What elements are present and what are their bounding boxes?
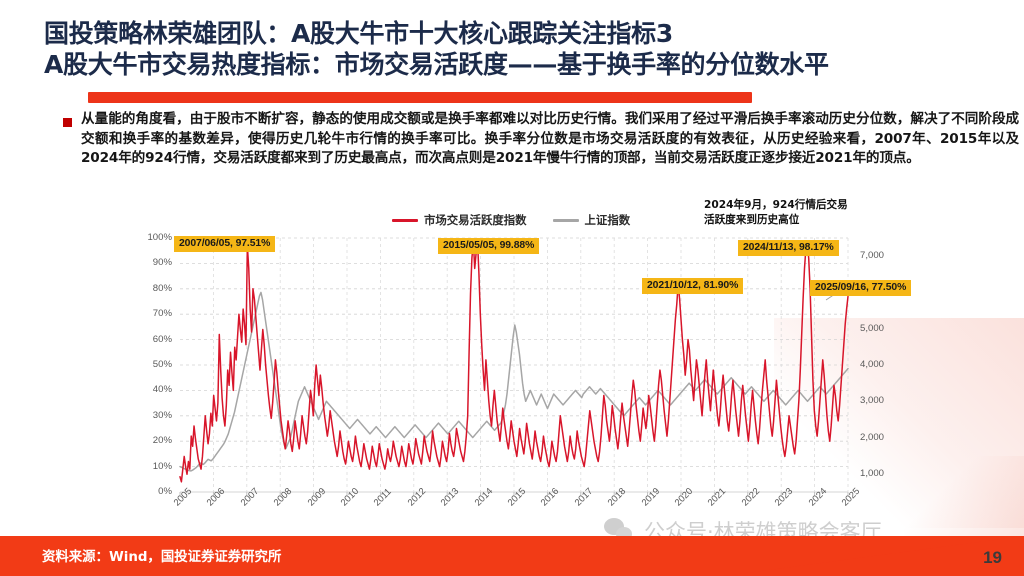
chart-gridlines [180, 238, 848, 496]
chart-callout[interactable]: 2007/06/05, 97.51% [174, 236, 275, 252]
chart-annotation-2024: 2024年9月，924行情后交易活跃度来到历史高位 [704, 198, 854, 227]
legend-label: 市场交易活跃度指数 [424, 212, 527, 228]
y-axis-left-tick: 40% [132, 384, 172, 395]
title-underline-bar [88, 92, 752, 103]
footer-source-text: 资料来源：Wind，国投证券证券研究所 [42, 545, 281, 565]
market-activity-chart: 0%10%20%30%40%50%60%70%80%90%100% 1,0002… [120, 196, 920, 536]
body-paragraph-block: 从量能的角度看，由于股市不断扩容，静态的使用成交额或是换手率都难以对比历史行情。… [63, 110, 1019, 169]
y-axis-right-tick: 5,000 [860, 323, 884, 334]
footer-triangle-accent [724, 536, 1024, 576]
y-axis-left-tick: 10% [132, 461, 172, 472]
chart-callout[interactable]: 2021/10/12, 81.90% [642, 278, 743, 294]
y-axis-left-tick: 30% [132, 410, 172, 421]
page-number: 19 [983, 548, 1002, 568]
chart-callout[interactable]: 2024/11/13, 98.17% [738, 240, 839, 256]
legend-swatch [392, 219, 418, 222]
body-paragraph-text: 从量能的角度看，由于股市不断扩容，静态的使用成交额或是换手率都难以对比历史行情。… [81, 110, 1019, 169]
y-axis-left-tick: 0% [132, 486, 172, 497]
y-axis-left-tick: 20% [132, 435, 172, 446]
y-axis-left-tick: 100% [132, 232, 172, 243]
legend-item[interactable]: 上证指数 [553, 212, 631, 228]
title-line-2: A股大牛市交易热度指标：市场交易活跃度——基于换手率的分位数水平 [44, 49, 1024, 80]
y-axis-left-tick: 80% [132, 283, 172, 294]
bullet-square-icon [63, 118, 72, 127]
y-axis-right-tick: 3,000 [860, 395, 884, 406]
legend-label: 上证指数 [585, 212, 631, 228]
y-axis-right-tick: 2,000 [860, 432, 884, 443]
legend-swatch [553, 219, 579, 222]
slide-title: 国投策略林荣雄团队：A股大牛市十大核心跟踪关注指标3 A股大牛市交易热度指标：市… [44, 18, 1024, 80]
y-axis-right-tick: 1,000 [860, 468, 884, 479]
y-axis-left-tick: 70% [132, 308, 172, 319]
legend-item[interactable]: 市场交易活跃度指数 [392, 212, 527, 228]
y-axis-right-tick: 4,000 [860, 359, 884, 370]
chart-callout[interactable]: 2015/05/05, 99.88% [438, 238, 539, 254]
chart-legend: 市场交易活跃度指数上证指数 [392, 212, 630, 228]
y-axis-right-tick: 7,000 [860, 250, 884, 261]
chart-callout[interactable]: 2025/09/16, 77.50% [810, 280, 911, 296]
y-axis-left-tick: 90% [132, 257, 172, 268]
y-axis-left-tick: 60% [132, 334, 172, 345]
y-axis-left-tick: 50% [132, 359, 172, 370]
title-line-1: 国投策略林荣雄团队：A股大牛市十大核心跟踪关注指标3 [44, 18, 1024, 49]
